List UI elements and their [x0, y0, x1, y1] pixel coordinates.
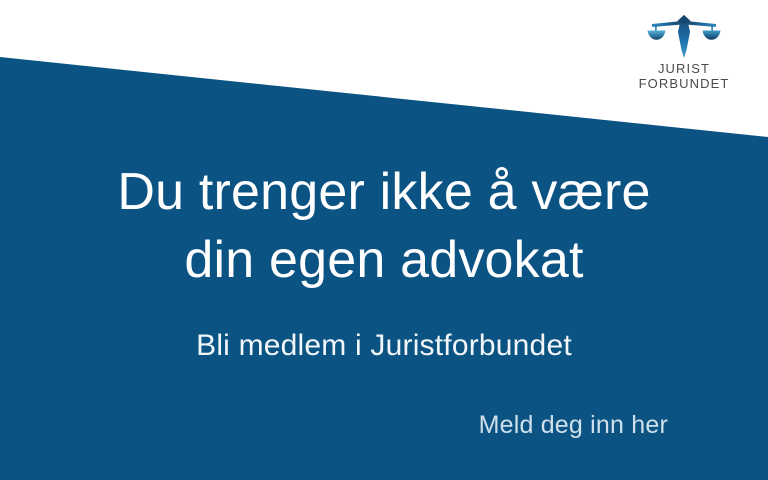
headline: Du trenger ikke å være din egen advokat [0, 158, 768, 294]
headline-line-1: Du trenger ikke å være [0, 158, 768, 226]
brand-logo[interactable]: JURIST FORBUNDET [638, 12, 730, 91]
headline-line-2: din egen advokat [0, 226, 768, 294]
brand-logo-line-2: FORBUNDET [638, 76, 730, 91]
brand-logo-line-1: JURIST [638, 61, 730, 76]
promo-banner: JURIST FORBUNDET Du trenger ikke å være … [0, 0, 768, 480]
brand-logo-wordmark: JURIST FORBUNDET [638, 61, 730, 91]
scales-of-justice-icon [646, 12, 722, 58]
signup-cta-link[interactable]: Meld deg inn her [479, 409, 668, 441]
subtitle: Bli medlem i Juristforbundet [0, 327, 768, 365]
